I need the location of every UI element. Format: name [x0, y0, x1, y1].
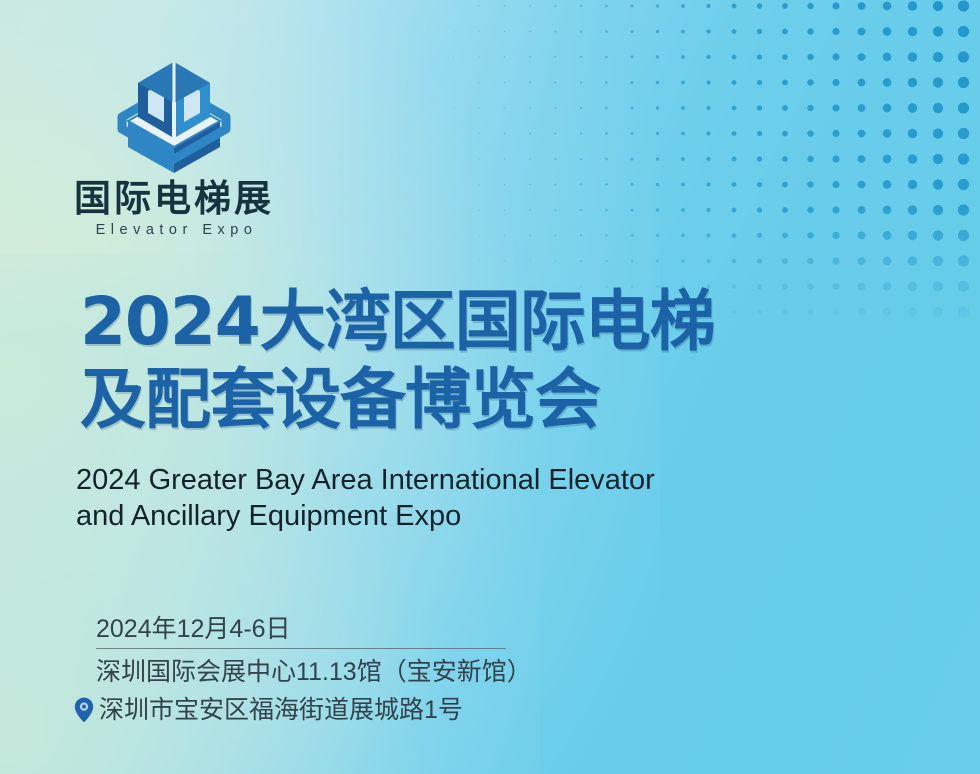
event-date: 2024年12月4-6日 [96, 612, 544, 646]
logo-english-name: Elevator Expo [74, 222, 274, 238]
event-address: 深圳市宝安区福海街道展城路1号 [99, 693, 463, 727]
logo-lockup: 国际电梯展 Elevator Expo [74, 55, 274, 238]
headline-line-1: 2024大湾区国际电梯 [80, 283, 890, 361]
event-details: 2024年12月4-6日 深圳国际会展中心11.13馆（宝安新馆） 深圳市宝安区… [74, 612, 544, 727]
event-address-row: 深圳市宝安区福海街道展城路1号 [74, 693, 544, 727]
subtitle-line-1: 2024 Greater Bay Area International Elev… [76, 462, 776, 498]
subtitle-line-2: and Ancillary Equipment Expo [76, 498, 776, 534]
headline-line-2: 及配套设备博览会 [80, 361, 890, 439]
page-title: 2024大湾区国际电梯 及配套设备博览会 [80, 283, 890, 439]
page-subtitle: 2024 Greater Bay Area International Elev… [76, 462, 776, 534]
halftone-dot-pattern [420, 0, 980, 330]
elevator-building-logo-icon [108, 55, 240, 173]
event-venue: 深圳国际会展中心11.13馆（宝安新馆） [96, 655, 544, 689]
logo-chinese-name: 国际电梯展 [74, 179, 274, 218]
location-pin-icon [74, 697, 94, 723]
date-divider [96, 648, 506, 649]
expo-poster: 国际电梯展 Elevator Expo 2024大湾区国际电梯 及配套设备博览会… [0, 0, 980, 774]
